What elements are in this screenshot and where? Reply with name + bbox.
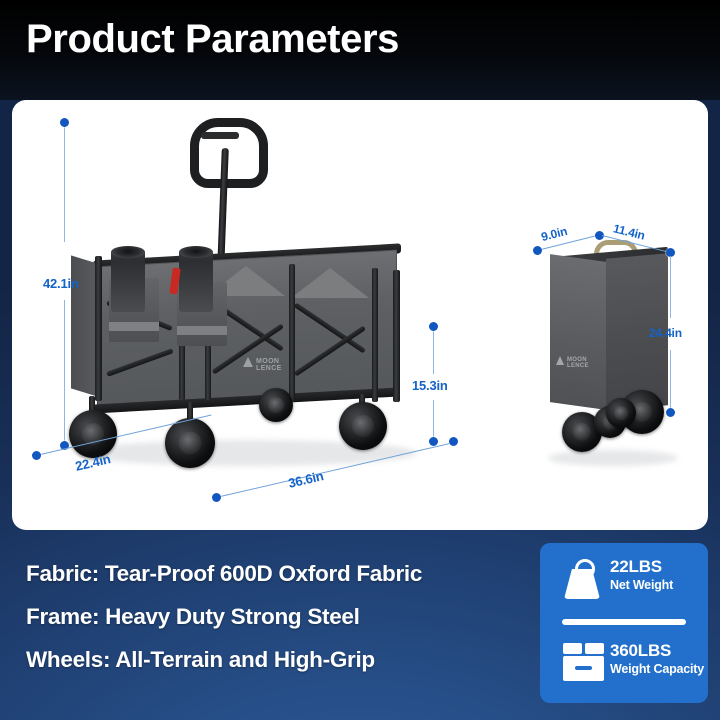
wheel-hub — [179, 432, 202, 455]
frame-post — [289, 264, 295, 402]
brand-logo-text: MOON LENCE — [567, 357, 608, 369]
pouch-band — [109, 322, 159, 331]
ground-shadow — [548, 450, 678, 466]
wheel-hub — [268, 397, 284, 413]
frame-post — [95, 256, 102, 401]
cup-holder-rim — [179, 246, 213, 258]
weight-icon — [562, 557, 602, 599]
measure-dot — [533, 246, 542, 255]
cup-holder — [179, 250, 213, 312]
brand-logo-text: MOON LENCE — [256, 358, 305, 372]
wheel — [606, 398, 636, 428]
weight-capacity-value: 360LBS — [610, 641, 704, 661]
brand-logo: MOON LENCE — [243, 356, 305, 368]
wheel-hub — [573, 423, 591, 441]
pouch-band — [177, 326, 227, 335]
measure-dot — [666, 408, 675, 417]
spec-line-fabric: Fabric: Tear-Proof 600D Oxford Fabric — [26, 552, 422, 595]
handle-grip-bar — [201, 132, 239, 139]
weight-capacity-label: Weight Capacity — [610, 661, 704, 677]
wheel-hub — [352, 415, 374, 437]
box-icon — [562, 641, 606, 683]
dimension-label-height: 42.1in — [43, 276, 79, 291]
frame-post — [393, 270, 400, 402]
dimension-label-folded-height: 24.4in — [649, 326, 682, 340]
weight-info-card: 22LBS Net Weight 360LBS Weight Capacity — [540, 543, 708, 703]
measure-dot — [429, 322, 438, 331]
product-image-card: MOON LENCE MOON LENCE — [12, 100, 708, 530]
weight-icon-body — [564, 569, 600, 599]
page-title: Product Parameters — [26, 15, 399, 63]
guide-line — [433, 400, 434, 440]
measure-dot — [60, 118, 69, 127]
box-icon-lid-right — [585, 643, 604, 654]
spec-line-frame: Frame: Heavy Duty Strong Steel — [26, 595, 422, 638]
dimension-label-body-height: 15.3in — [412, 378, 448, 393]
guide-line — [64, 300, 65, 446]
wheel — [69, 410, 117, 458]
mountain-icon — [556, 356, 564, 365]
net-weight-value: 22LBS — [610, 557, 673, 577]
net-weight-row: 22LBS Net Weight — [540, 549, 708, 611]
mountain-icon — [243, 357, 253, 367]
wagon-expanded-illustration: MOON LENCE — [67, 110, 437, 475]
product-parameters-infographic: Product Parameters — [0, 0, 720, 720]
box-icon-lid-left — [563, 643, 582, 654]
cup-holder — [111, 250, 145, 312]
wagon-folded-illustration: MOON LENCE — [542, 240, 682, 480]
cup-holder-rim — [111, 246, 145, 258]
spec-list: Fabric: Tear-Proof 600D Oxford Fabric Fr… — [26, 552, 422, 681]
guide-line — [433, 326, 434, 374]
measure-dot — [212, 493, 221, 502]
spec-line-wheels: Wheels: All-Terrain and High-Grip — [26, 638, 422, 681]
frame-post — [372, 268, 378, 402]
folded-front-panel — [550, 254, 606, 410]
handle-grip-icon — [190, 118, 268, 188]
measure-dot — [449, 437, 458, 446]
wheel — [165, 418, 215, 468]
weight-capacity-row: 360LBS Weight Capacity — [540, 633, 708, 695]
brand-logo: MOON LENCE — [556, 356, 608, 366]
card-divider — [562, 619, 686, 625]
guide-line — [670, 350, 671, 412]
wheel — [339, 402, 387, 450]
net-weight-label: Net Weight — [610, 577, 673, 593]
guide-line — [64, 122, 65, 242]
box-icon-slot — [575, 666, 592, 670]
wheel — [259, 388, 293, 422]
wheel-hub — [614, 406, 628, 420]
measure-dot — [429, 437, 438, 446]
guide-line — [670, 256, 671, 318]
measure-dot — [32, 451, 41, 460]
